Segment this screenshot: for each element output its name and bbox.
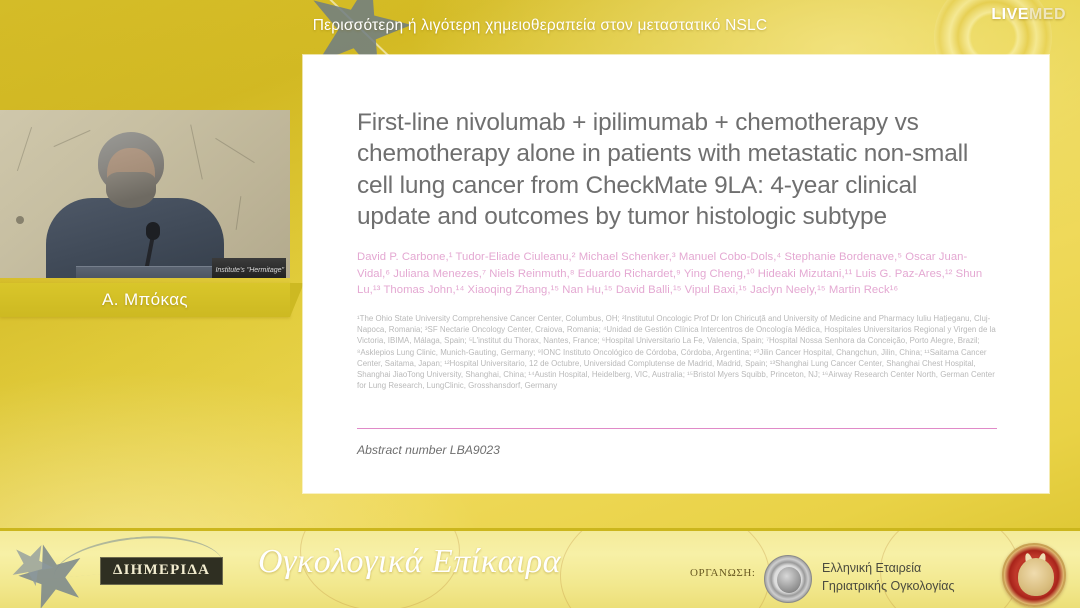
star-decoration-icon: ★ [0,529,66,599]
star-decoration-icon: ★ [4,528,100,608]
header-title: Περισσότερη ή λιγότερη χημειοθεραπεία στ… [313,17,768,35]
organizer-label: ΟΡΓΑΝΩΣΗ: [690,567,756,579]
wall-scribble-dot [16,216,24,224]
rabbit-ear-right-icon [1036,552,1047,571]
livemed-logo-live-text: LIVE [991,6,1029,23]
microphone-head-icon [146,222,160,240]
society-name-line-1: Ελληνική Εταιρεία [822,559,955,577]
speaker-video-panel[interactable]: Institute's "Hermitage" [0,110,290,278]
society-seal-icon [764,555,812,603]
podium [76,266,216,278]
presentation-stage: ★ Περισσότερη ή λιγότερη χημειοθεραπεία … [0,0,1080,608]
event-title: Ογκολογικά Επίκαιρα [258,543,561,581]
livemed-logo-med-text: MED [1029,6,1066,23]
society-name-line-2: Γηριατρικής Ογκολογίας [822,577,955,595]
speaker-nameplate: Α. Μπόκας [0,283,290,317]
rabbit-ear-left-icon [1024,552,1036,571]
dimerida-badge: ΔΙΗΜΕΡΙΔΑ [100,557,223,585]
slide-title: First-line nivolumab + ipilimumab + chem… [357,107,997,233]
livemed-logo: LIVEMED [991,6,1066,24]
header-bar: Περισσότερη ή λιγότερη χημειοθεραπεία στ… [0,0,1080,52]
presentation-slide[interactable]: First-line nivolumab + ipilimumab + chem… [303,55,1049,493]
speaker-name-text: Α. Μπόκας [102,290,188,310]
speaker-beard [106,172,156,208]
footer-banner: ★ ★ ΔΙΗΜΕΡΙΔΑ Ογκολογικά Επίκαιρα ΟΡΓΑΝΩ… [0,528,1080,608]
congress-rabbit-emblem-icon [1002,543,1066,607]
society-name: Ελληνική Εταιρεία Γηριατρικής Ογκολογίας [822,559,955,595]
abstract-divider-rule [357,428,997,430]
abstract-number-text: Abstract number LBA9023 [357,443,500,457]
slide-affiliation-list: ¹The Ohio State University Comprehensive… [357,313,997,392]
wall-credit-text: Institute's "Hermitage" [215,267,284,274]
slide-author-list: David P. Carbone,¹ Tudor-Eliade Ciuleanu… [357,249,997,299]
